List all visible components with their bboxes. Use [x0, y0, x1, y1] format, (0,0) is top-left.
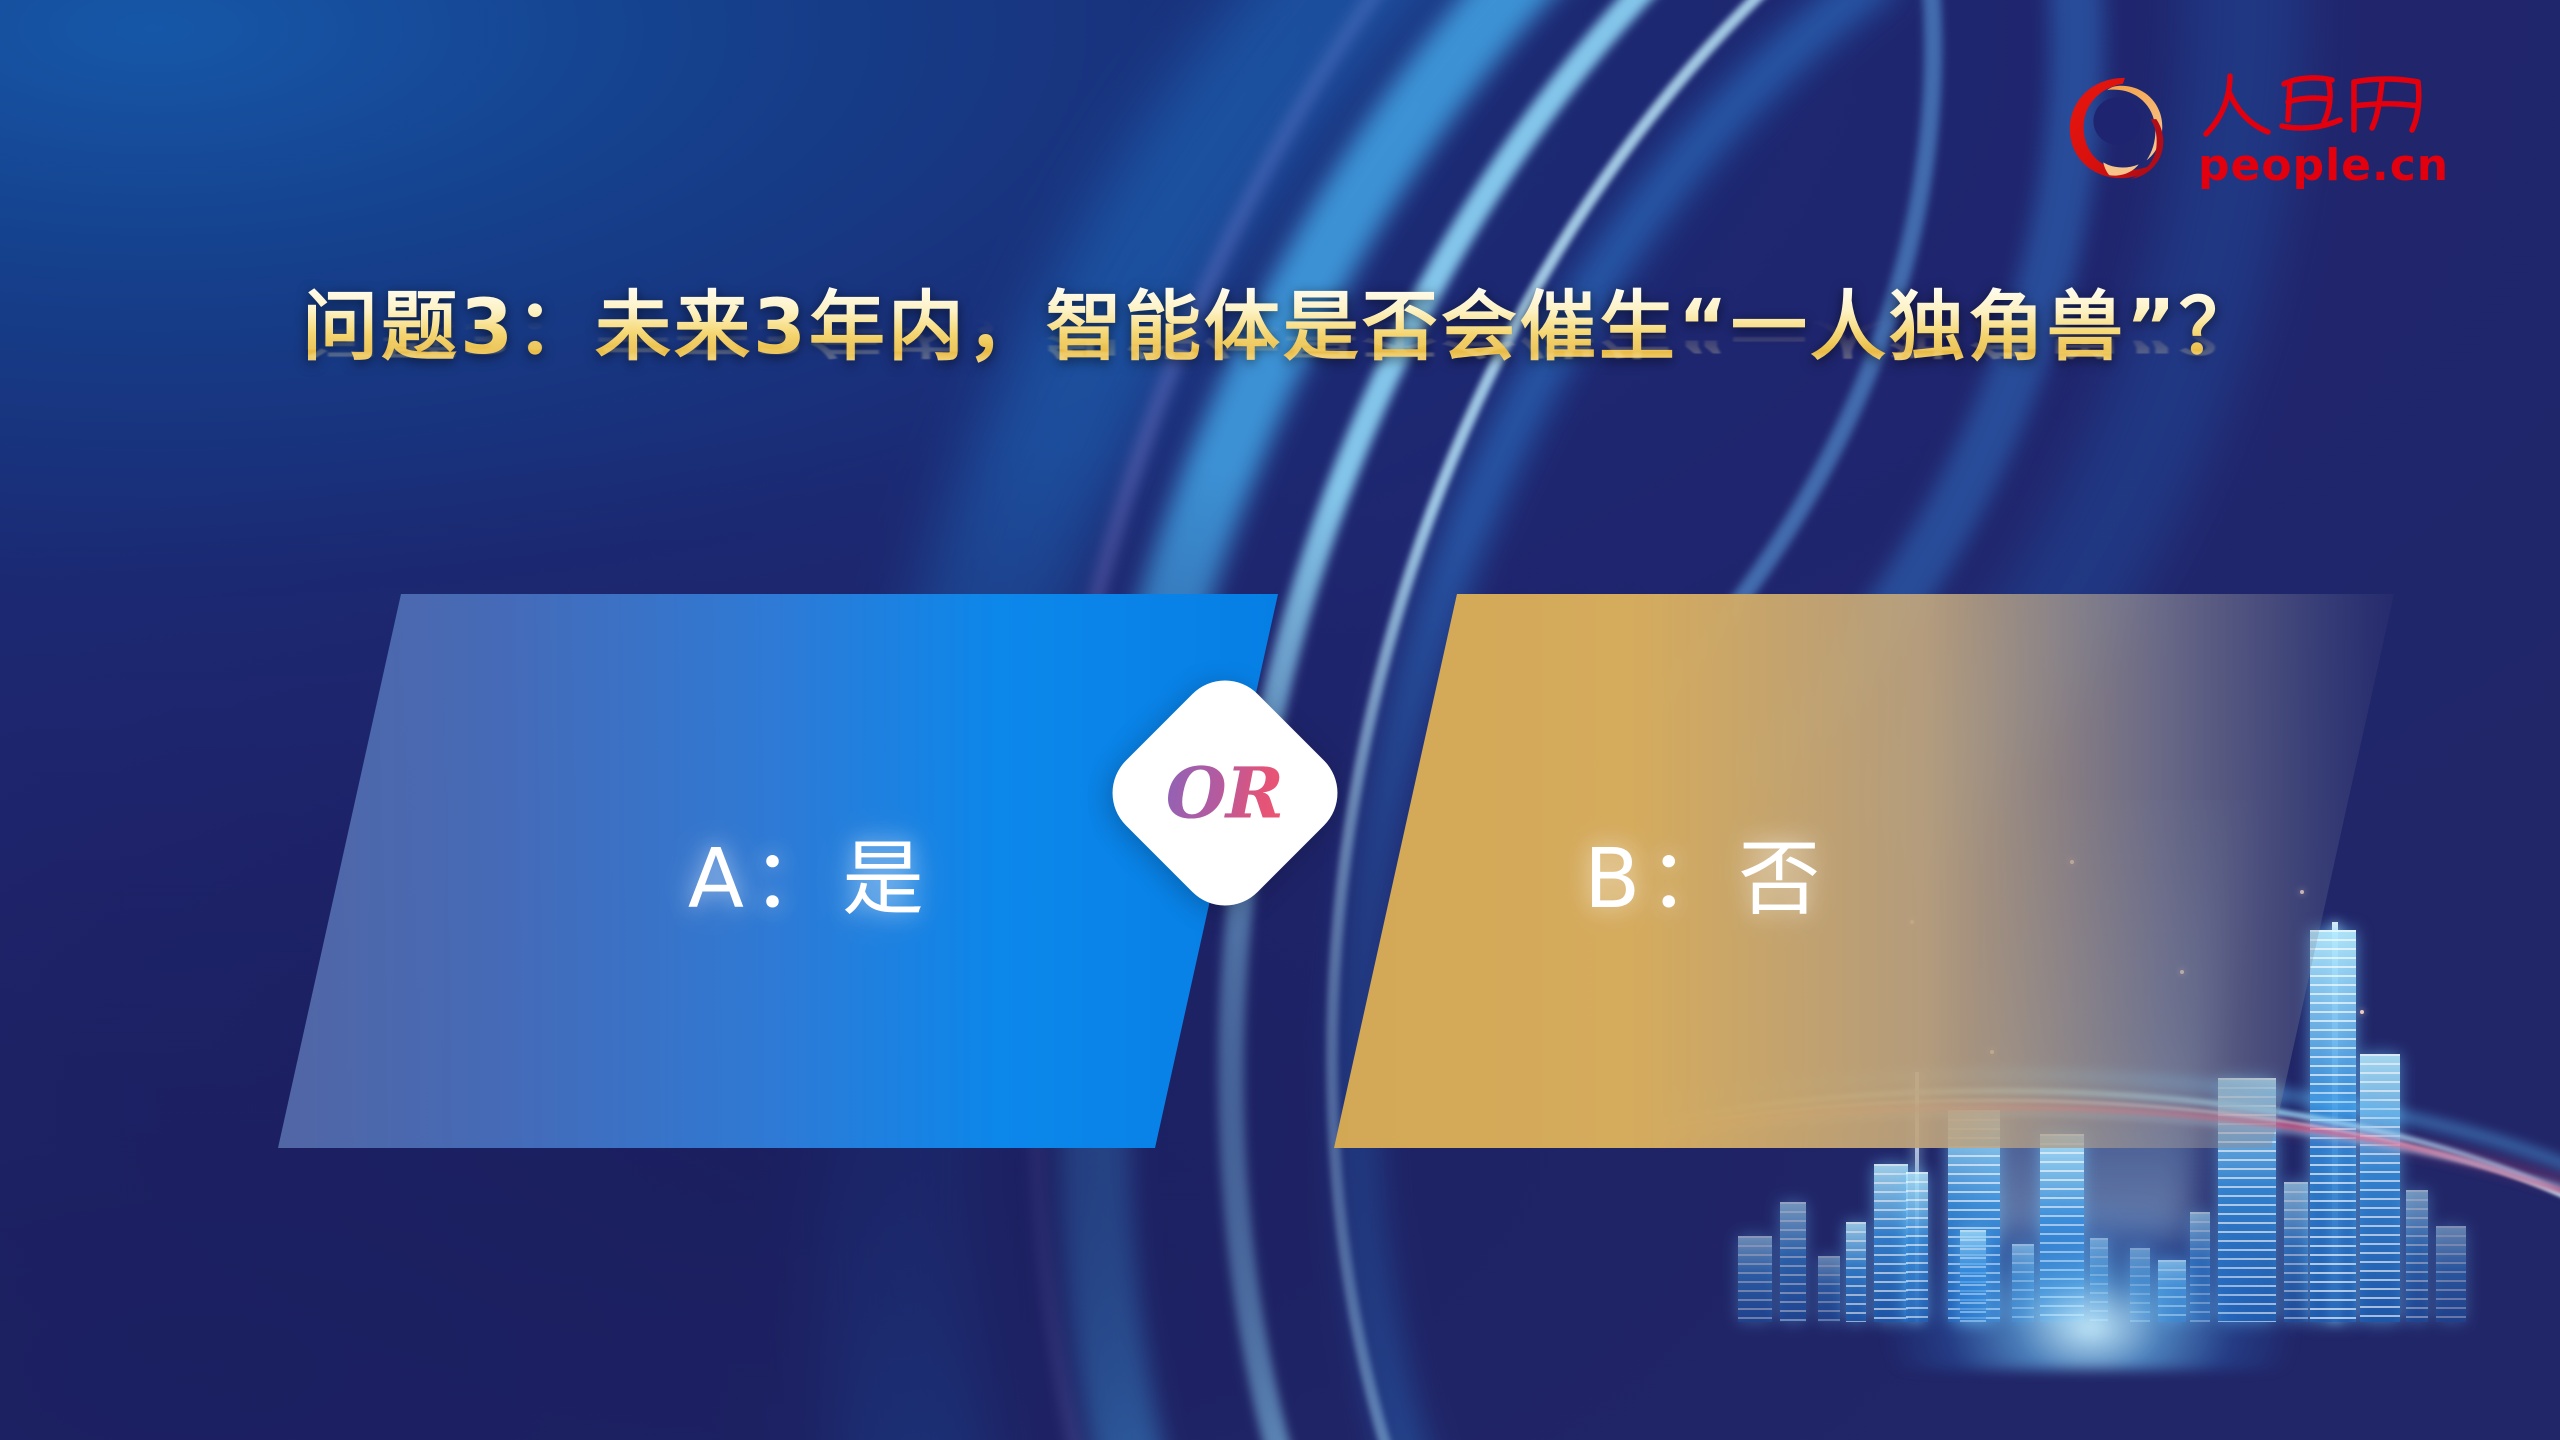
people-cn-chinese-characters — [2196, 68, 2428, 146]
people-cn-domain-text: people.cn — [2198, 144, 2449, 188]
poll-option-a[interactable]: A：是 — [278, 594, 1278, 1148]
people-cn-phoenix-icon — [2060, 68, 2178, 186]
poll-option-b-label: B：否 — [1584, 812, 1828, 931]
poll-slide: people.cn 问题3：未来3年内，智能体是否会催生“一人独角兽”？ 问题3… — [0, 0, 2560, 1440]
poll-options: A：是 B：否 — [0, 594, 2560, 1148]
poll-option-b[interactable]: B：否 — [1334, 594, 2394, 1148]
people-cn-logo[interactable]: people.cn — [2060, 62, 2430, 192]
poll-option-a-label: A：是 — [688, 812, 932, 931]
or-divider-label: OR — [1166, 752, 1283, 835]
